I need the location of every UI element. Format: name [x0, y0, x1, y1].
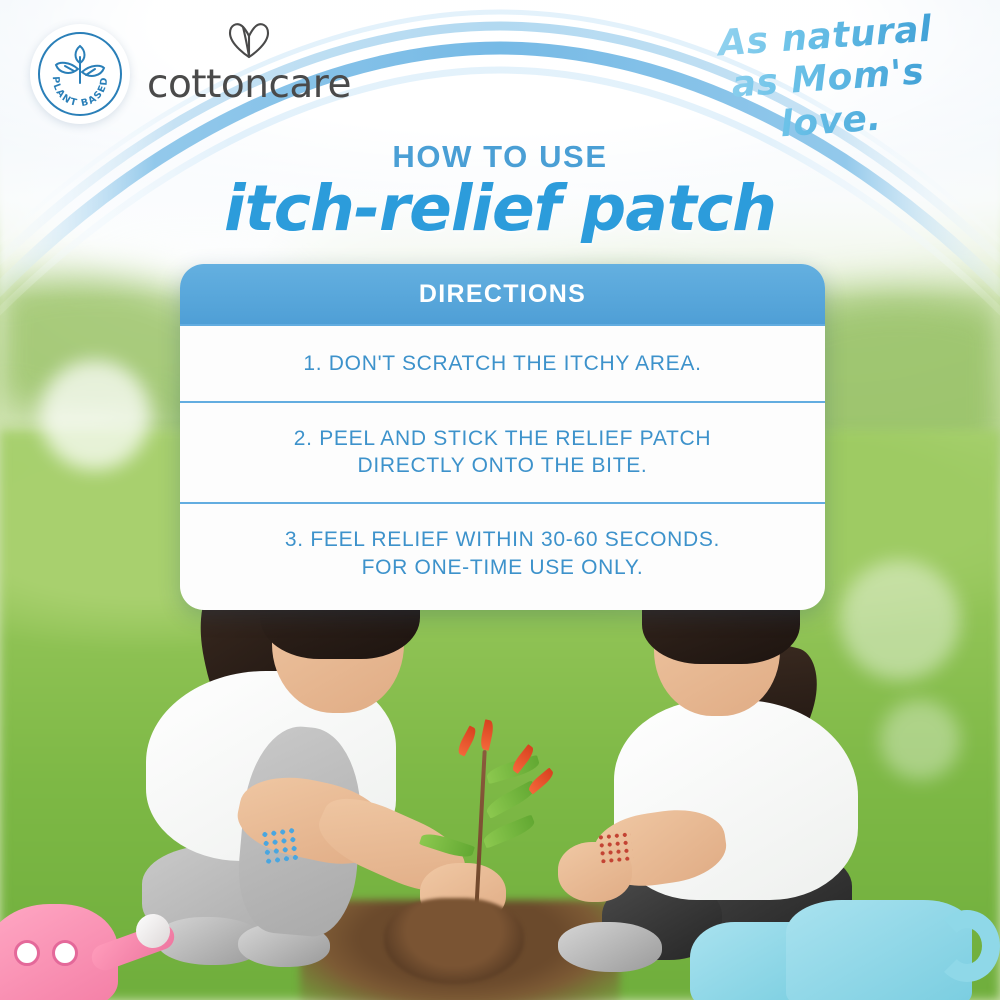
heart-leaf-icon — [219, 18, 279, 60]
brand-tagline: As natural as Mom's love. — [674, 6, 982, 154]
step-3-line-1: 3. FEEL RELIEF WITHIN 30-60 SECONDS. — [206, 526, 799, 554]
step-2-line-2: DIRECTLY ONTO THE BITE. — [206, 452, 799, 480]
direction-step-3: 3. FEEL RELIEF WITHIN 30-60 SECONDS. FOR… — [180, 502, 825, 609]
seal-ring — [38, 32, 122, 116]
brand-logo: cottoncare — [134, 18, 364, 107]
red-leaf-tip — [456, 725, 479, 756]
blue-itch-relief-patch-icon — [260, 826, 300, 865]
step-2-line-1: 2. PEEL AND STICK THE RELIEF PATCH — [206, 425, 799, 453]
headline-eyebrow: HOW TO USE — [0, 139, 1000, 175]
leaf — [419, 830, 475, 861]
leaf — [433, 767, 487, 800]
shoe — [558, 922, 662, 972]
step-3-line-2: FOR ONE-TIME USE ONLY. — [206, 554, 799, 582]
elephant-eye — [52, 940, 78, 966]
direction-step-1: 1. DON'T SCRATCH THE ITCHY AREA. — [180, 324, 825, 401]
teal-elephant-watering-can — [690, 900, 1000, 1000]
direction-step-2: 2. PEEL AND STICK THE RELIEF PATCH DIREC… — [180, 401, 825, 502]
brand-name: cottoncare — [147, 62, 351, 107]
plant-rootball — [384, 898, 524, 984]
directions-card: DIRECTIONS 1. DON'T SCRATCH THE ITCHY AR… — [180, 264, 825, 610]
plant-based-seal: PLANT BASED — [30, 24, 130, 124]
bokeh-light — [40, 360, 150, 470]
red-insect-bite-icon — [597, 830, 634, 863]
page-title: itch-relief patch — [0, 172, 1000, 245]
can-handle — [934, 910, 1000, 982]
directions-card-header: DIRECTIONS — [180, 264, 825, 324]
leaf — [481, 814, 537, 848]
poster-canvas: PLANT BASED cottoncare As natural as Mom… — [0, 0, 1000, 1000]
pink-elephant-watering-can — [0, 896, 186, 1000]
elephant-eye — [14, 940, 40, 966]
step-1-text: 1. DON'T SCRATCH THE ITCHY AREA. — [303, 352, 701, 375]
leaf — [427, 800, 481, 827]
red-leaf-tip — [479, 719, 495, 750]
